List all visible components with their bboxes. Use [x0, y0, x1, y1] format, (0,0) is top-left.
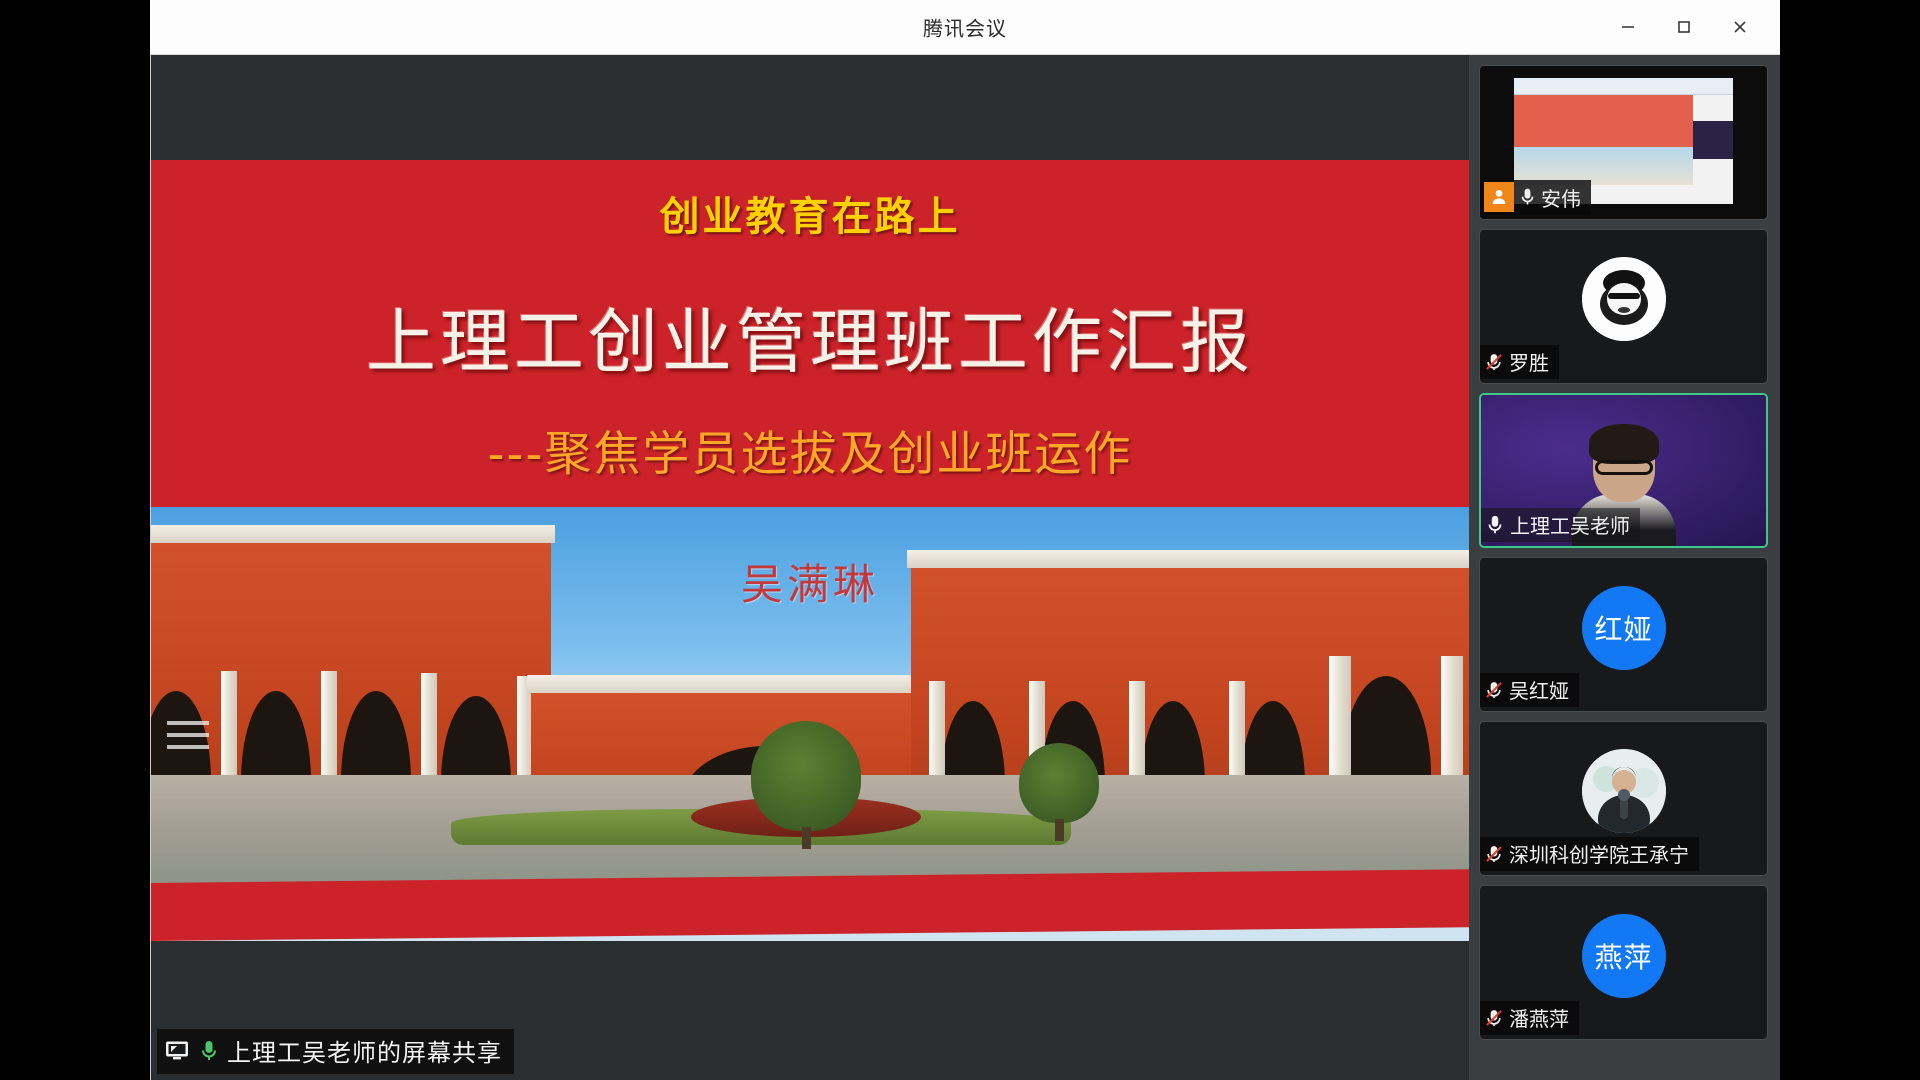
slide-campus-photo: 吴满琳 — [151, 507, 1469, 941]
window-titlebar: 腾讯会议 — [150, 0, 1780, 55]
person-icon — [1489, 187, 1509, 207]
campus-tree — [751, 721, 861, 831]
participant-name: 安伟 — [1541, 183, 1581, 212]
participant-tile-luosheng[interactable]: 罗胜 — [1479, 229, 1768, 384]
slide-subtitle: ---聚焦学员选拔及创业班运作 — [187, 415, 1433, 484]
participant-tile-panyanping[interactable]: 燕萍 潘燕萍 — [1479, 885, 1768, 1040]
participant-name: 吴红娅 — [1509, 675, 1569, 704]
microphone-muted-icon — [1484, 1008, 1504, 1028]
slide-bottom-red-bar — [151, 869, 1469, 941]
host-badge-icon — [1484, 182, 1514, 212]
screen-share-label-text: 上理工吴老师的屏幕共享 — [227, 1033, 502, 1068]
participant-namebar: 安伟 — [1480, 180, 1591, 215]
slide-decor-bullets — [167, 721, 209, 749]
participant-tile-wuhongya[interactable]: 红娅 吴红娅 — [1479, 557, 1768, 712]
participant-name: 潘燕萍 — [1509, 1003, 1569, 1032]
participant-name: 深圳科创学院王承宁 — [1509, 839, 1689, 868]
avatar: 红娅 — [1582, 586, 1666, 670]
screen-share-label: 上理工吴老师的屏幕共享 — [157, 1029, 514, 1074]
slide-kicker: 创业教育在路上 — [187, 184, 1433, 242]
participant-tile-wu-teacher[interactable]: 上理工吴老师 — [1479, 393, 1768, 548]
microphone-muted-icon — [1484, 844, 1504, 864]
avatar — [1582, 257, 1666, 341]
portrait-icon — [1582, 257, 1666, 341]
participants-sidebar[interactable]: 安伟 — [1469, 55, 1780, 1080]
participant-name: 罗胜 — [1509, 347, 1549, 376]
monitor-icon — [165, 1040, 191, 1062]
microphone-on-icon — [1519, 187, 1536, 207]
participant-name: 上理工吴老师 — [1510, 510, 1630, 539]
campus-tree-2 — [1019, 743, 1099, 823]
microphone-muted-icon — [1484, 680, 1504, 700]
participant-namebar: 罗胜 — [1480, 345, 1559, 379]
portrait-icon — [1582, 749, 1666, 833]
slide-presenter-name: 吴满琳 — [151, 551, 1469, 612]
participant-namebar: 潘燕萍 — [1480, 1001, 1579, 1035]
avatar: 燕萍 — [1582, 914, 1666, 998]
minimize-icon — [1618, 17, 1638, 37]
participant-namebar: 吴红娅 — [1480, 673, 1579, 707]
close-icon — [1730, 17, 1750, 37]
avatar — [1582, 749, 1666, 833]
participant-tile-anwei[interactable]: 安伟 — [1479, 65, 1768, 220]
window-title: 腾讯会议 — [150, 13, 1780, 42]
meeting-window: 腾讯会议 — [150, 0, 1780, 1080]
participant-namebar: 上理工吴老师 — [1481, 508, 1640, 542]
microphone-on-icon — [1485, 514, 1505, 536]
maximize-button[interactable] — [1658, 7, 1710, 47]
maximize-icon — [1674, 17, 1694, 37]
participant-namebar: 深圳科创学院王承宁 — [1480, 837, 1699, 871]
shared-screen-stage[interactable]: 创业教育在路上 上理工创业管理班工作汇报 ---聚焦学员选拔及创业班运作 — [151, 55, 1469, 1080]
minimize-button[interactable] — [1602, 7, 1654, 47]
slide-title-banner: 创业教育在路上 上理工创业管理班工作汇报 ---聚焦学员选拔及创业班运作 — [151, 160, 1469, 507]
microphone-muted-icon — [1484, 352, 1504, 372]
presentation-slide: 创业教育在路上 上理工创业管理班工作汇报 ---聚焦学员选拔及创业班运作 — [151, 160, 1469, 941]
close-button[interactable] — [1714, 7, 1766, 47]
window-body: 创业教育在路上 上理工创业管理班工作汇报 ---聚焦学员选拔及创业班运作 — [150, 55, 1780, 1080]
participant-tile-wangchengning[interactable]: 深圳科创学院王承宁 — [1479, 721, 1768, 876]
window-controls — [1602, 0, 1766, 54]
microphone-on-icon — [199, 1039, 219, 1063]
slide-main-title: 上理工创业管理班工作汇报 — [187, 286, 1433, 387]
